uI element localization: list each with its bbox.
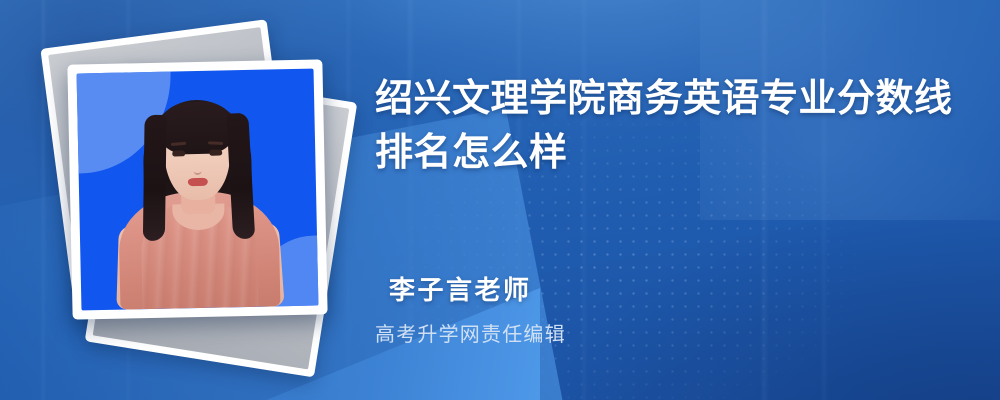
- banner-text-block: 绍兴文理学院商务英语专业分数线排名怎么样 李子言老师 高考升学网责任编辑: [375, 0, 975, 400]
- portrait-eye-right: [209, 149, 222, 155]
- article-cover-banner: 绍兴文理学院商务英语专业分数线排名怎么样 李子言老师 高考升学网责任编辑: [0, 0, 1000, 400]
- article-title: 绍兴文理学院商务英语专业分数线排名怎么样: [375, 72, 955, 180]
- portrait-lips: [187, 178, 207, 186]
- author-role: 高考升学网责任编辑: [375, 318, 566, 347]
- portrait-eye-left: [172, 150, 185, 156]
- author-portrait-photo: [77, 69, 319, 311]
- portrait-hair-side-left: [142, 115, 166, 241]
- photo-card-stack: [45, 25, 345, 365]
- author-name: 李子言老师: [389, 270, 532, 307]
- portrait-hair-front: [157, 101, 236, 155]
- photo-card-front: [67, 59, 327, 319]
- portrait-figure: [102, 82, 293, 310]
- portrait-nose: [193, 164, 201, 175]
